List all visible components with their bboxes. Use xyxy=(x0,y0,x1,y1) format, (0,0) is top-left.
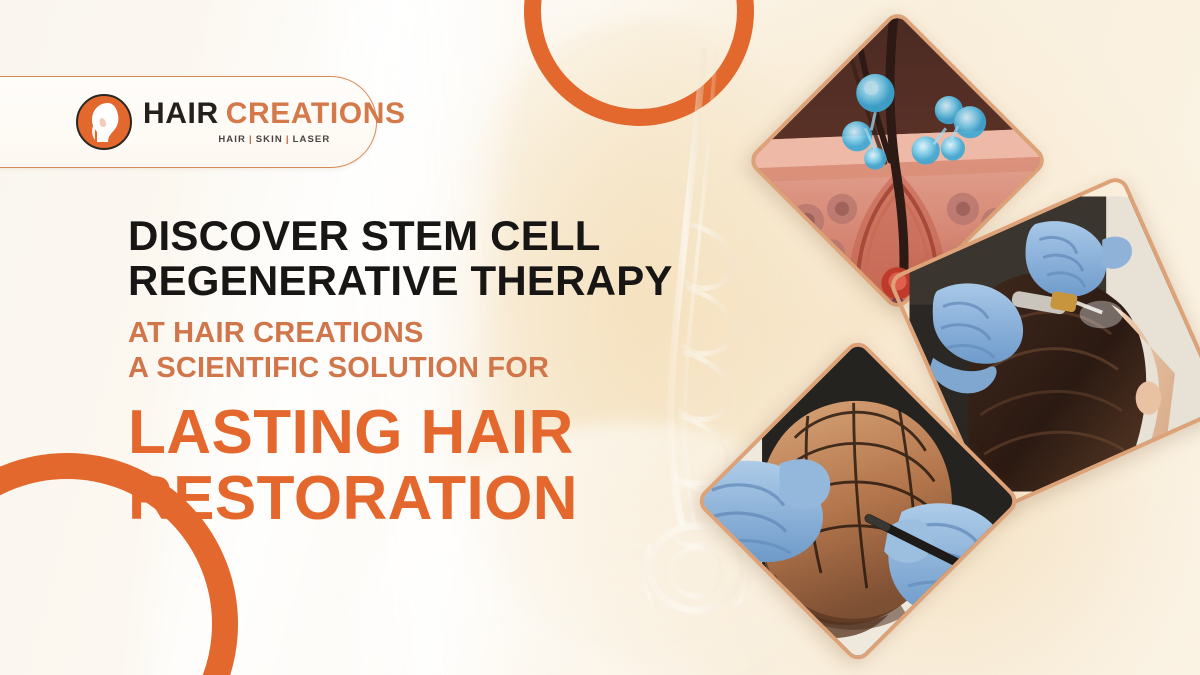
subheadline-line-1: AT HAIR CREATIONS xyxy=(128,316,728,351)
tagline-skin: SKIN xyxy=(256,134,283,145)
tagline-laser: LASER xyxy=(293,134,331,145)
subheadline-line-2: A SCIENTIFIC SOLUTION FOR xyxy=(128,351,728,386)
brand-wordmark: HAIRCREATIONS HAIR|SKIN|LASER xyxy=(143,99,406,145)
emphasis-line-1: LASTING HAIR xyxy=(128,400,728,466)
wordmark-text: HAIRCREATIONS xyxy=(143,99,406,129)
tagline-separator: | xyxy=(249,134,253,145)
headline-line-2: REGENERATIVE THERAPY xyxy=(128,258,728,303)
headline-line-1: DISCOVER STEM CELL xyxy=(128,213,728,258)
wordmark-creations: CREATIONS xyxy=(226,97,406,130)
tagline-hair: HAIR xyxy=(218,134,246,145)
tagline-separator: | xyxy=(286,134,290,145)
brand-tagline: HAIR|SKIN|LASER xyxy=(143,134,406,145)
wordmark-hair: HAIR xyxy=(143,97,219,130)
emphasis-line-2: RESTORATION xyxy=(128,466,728,532)
promotional-banner: HAIRCREATIONS HAIR|SKIN|LASER DISCOVER S… xyxy=(0,0,1200,675)
headline-block: DISCOVER STEM CELL REGENERATIVE THERAPY … xyxy=(128,213,728,532)
woman-head-profile-icon xyxy=(76,94,132,150)
brand-logo: HAIRCREATIONS HAIR|SKIN|LASER xyxy=(76,94,406,150)
brand-logo-panel[interactable]: HAIRCREATIONS HAIR|SKIN|LASER xyxy=(0,76,377,168)
